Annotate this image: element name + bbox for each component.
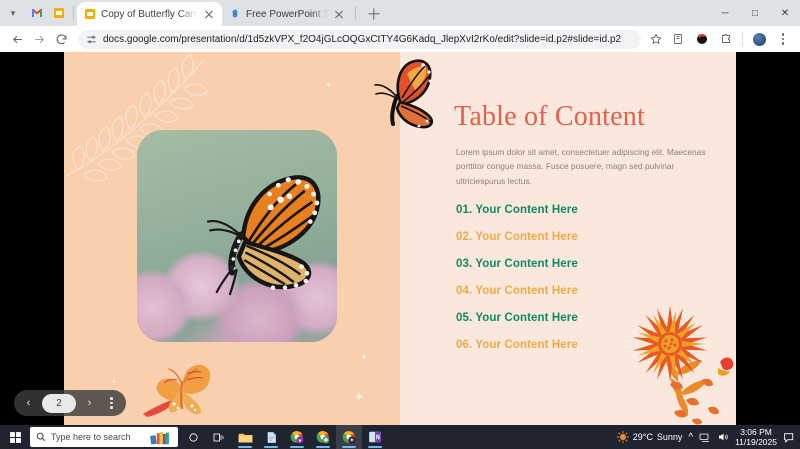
- tune-icon[interactable]: [86, 34, 97, 45]
- close-icon[interactable]: [333, 8, 345, 20]
- butterfly-orange-bottom-icon: [143, 360, 223, 418]
- search-input[interactable]: Type here to search: [30, 427, 178, 447]
- url-text: docs.google.com/presentation/d/1d5zkVPX_…: [103, 34, 633, 45]
- new-tab-button[interactable]: [363, 3, 385, 25]
- list-item-label: Your Content Here: [475, 231, 577, 243]
- list-item[interactable]: 06. Your Content Here: [456, 339, 716, 351]
- slide-viewer[interactable]: ✦ ✦ ✦ ✦: [0, 52, 800, 425]
- gmail-icon[interactable]: [26, 0, 48, 26]
- list-item-label: Your Content Here: [475, 312, 577, 324]
- tab-title: Free PowerPoint Templates and: [246, 9, 328, 20]
- puzzle-icon[interactable]: [715, 28, 737, 50]
- browser-toolbar: docs.google.com/presentation/d/1d5zkVPX_…: [0, 26, 800, 52]
- slide-body-text: Lorem ipsum dolor sit amet, consectetuer…: [456, 145, 706, 188]
- tab-active[interactable]: Copy of Butterfly Campaign Or: [77, 2, 222, 26]
- slides-icon: [84, 8, 96, 20]
- onenote-icon[interactable]: [362, 425, 388, 449]
- presentation-slide[interactable]: ✦ ✦ ✦ ✦: [64, 52, 736, 425]
- window-controls: ─ □ ✕: [710, 0, 800, 26]
- slide-pagination[interactable]: ‹ 2 ›: [14, 390, 126, 416]
- page-title: Table of Content: [454, 101, 645, 133]
- list-item-number: 04.: [456, 285, 472, 297]
- sparkle-icon: ✦: [325, 80, 333, 91]
- clock-date: 11/19/2025: [735, 437, 777, 447]
- slidesgo-icon: [229, 8, 241, 20]
- list-item-number: 03.: [456, 258, 472, 270]
- chrome-green-icon[interactable]: [310, 425, 336, 449]
- task-view-icon[interactable]: [206, 425, 232, 449]
- profile-avatar[interactable]: [748, 28, 770, 50]
- tab-inactive[interactable]: Free PowerPoint Templates and: [222, 2, 352, 26]
- clock[interactable]: 3:06 PM 11/19/2025: [735, 427, 777, 448]
- butterfly-orange-top-icon: [365, 58, 439, 130]
- network-icon[interactable]: [699, 432, 711, 443]
- weather-temperature: 29°C: [633, 432, 653, 442]
- list-item-number: 06.: [456, 339, 472, 351]
- maximize-icon[interactable]: □: [740, 0, 770, 26]
- list-item-label: Your Content Here: [475, 339, 577, 351]
- search-placeholder: Type here to search: [51, 432, 131, 442]
- close-icon[interactable]: [203, 8, 215, 20]
- list-item[interactable]: 05. Your Content Here: [456, 312, 716, 324]
- star-icon[interactable]: [647, 30, 665, 48]
- system-tray: 29°C Sunny ^ 3:06 PM 11/19/2025: [617, 427, 800, 448]
- toolbar-divider: [73, 6, 74, 20]
- search-books-icon: [150, 430, 172, 445]
- tab-title: Copy of Butterfly Campaign Or: [101, 9, 198, 20]
- extension-red-icon[interactable]: [691, 28, 713, 50]
- kebab-menu-icon[interactable]: [101, 393, 122, 414]
- notification-icon[interactable]: [783, 431, 796, 444]
- search-icon: [36, 432, 46, 442]
- reload-icon[interactable]: [50, 28, 72, 50]
- chevron-up-icon[interactable]: ^: [688, 432, 693, 443]
- volume-icon[interactable]: [717, 431, 729, 443]
- chrome-active-icon[interactable]: [336, 425, 362, 449]
- screen: ▾ Copy of Butterfly Campaign Or: [0, 0, 800, 449]
- photo-monarch-butterfly: [197, 168, 329, 299]
- slides-quick-icon[interactable]: [48, 0, 70, 26]
- list-item[interactable]: 01. Your Content Here: [456, 204, 716, 216]
- list-item[interactable]: 03. Your Content Here: [456, 258, 716, 270]
- windows-taskbar: Type here to search: [0, 425, 800, 449]
- close-window-icon[interactable]: ✕: [770, 0, 800, 26]
- cortana-icon[interactable]: [180, 425, 206, 449]
- forward-arrow-icon[interactable]: [28, 28, 50, 50]
- page-number[interactable]: 2: [42, 394, 76, 413]
- toolbar-divider: [742, 32, 743, 46]
- content-list: 01. Your Content Here 02. Your Content H…: [456, 204, 716, 366]
- list-item-number: 02.: [456, 231, 472, 243]
- notepad-icon[interactable]: [258, 425, 284, 449]
- toolbar-actions: [647, 28, 794, 50]
- list-item-label: Your Content Here: [475, 204, 577, 216]
- sparkle-icon: ✦: [111, 378, 117, 386]
- file-explorer-icon[interactable]: [232, 425, 258, 449]
- butterfly-photo[interactable]: [137, 130, 337, 342]
- weather-condition: Sunny: [657, 432, 683, 442]
- list-item[interactable]: 02. Your Content Here: [456, 231, 716, 243]
- chevron-right-icon[interactable]: ›: [79, 393, 100, 414]
- sunny-icon: [617, 431, 629, 443]
- address-bar[interactable]: docs.google.com/presentation/d/1d5zkVPX_…: [78, 30, 641, 49]
- tab-divider: [355, 6, 356, 20]
- browser-tab-strip: ▾ Copy of Butterfly Campaign Or: [0, 0, 800, 26]
- list-item-number: 01.: [456, 204, 472, 216]
- sparkle-icon: ✦: [354, 390, 364, 404]
- list-item-label: Your Content Here: [475, 258, 577, 270]
- windows-start-icon[interactable]: [0, 425, 30, 449]
- weather-widget[interactable]: 29°C Sunny: [617, 431, 683, 443]
- chrome-purple-icon[interactable]: [284, 425, 310, 449]
- list-item-label: Your Content Here: [475, 285, 577, 297]
- list-item[interactable]: 04. Your Content Here: [456, 285, 716, 297]
- clock-time: 3:06 PM: [735, 427, 777, 437]
- minimize-icon[interactable]: ─: [710, 0, 740, 26]
- tab-search-icon[interactable]: ▾: [0, 0, 26, 26]
- chevron-left-icon[interactable]: ‹: [18, 393, 39, 414]
- reading-list-icon[interactable]: [667, 28, 689, 50]
- list-item-number: 05.: [456, 312, 472, 324]
- falling-petals-icon: [668, 374, 732, 425]
- kebab-menu-icon[interactable]: [772, 28, 794, 50]
- back-arrow-icon[interactable]: [6, 28, 28, 50]
- sparkle-icon: ✦: [360, 352, 368, 363]
